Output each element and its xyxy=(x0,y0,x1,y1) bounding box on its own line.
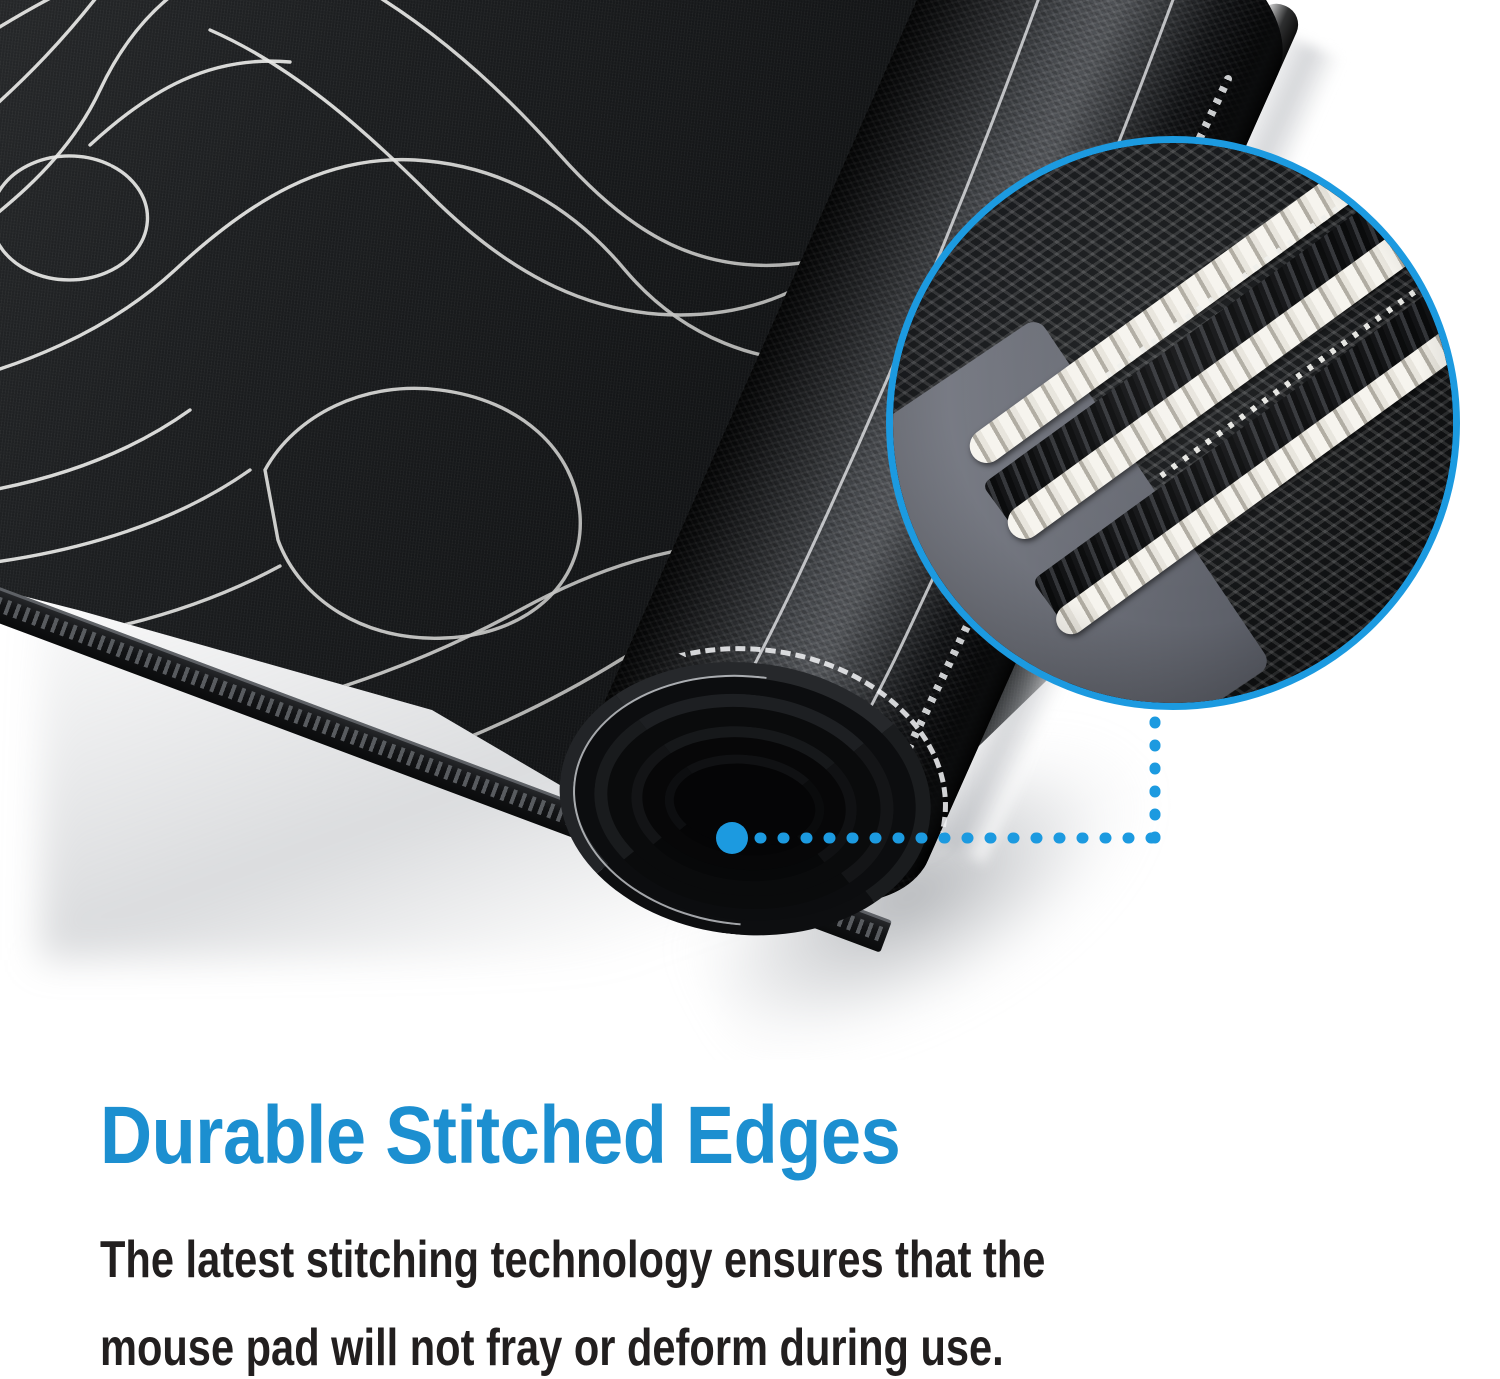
description-line-2: mouse pad will not fray or deform during… xyxy=(100,1304,1140,1379)
feature-description: The latest stitching technology ensures … xyxy=(100,1216,1140,1379)
zoom-vignette xyxy=(893,143,1453,703)
description-line-1: The latest stitching technology ensures … xyxy=(100,1216,1140,1304)
magnifier-circle[interactable] xyxy=(886,136,1460,710)
page-title: Durable Stitched Edges xyxy=(100,1090,1244,1182)
feature-text-block: Durable Stitched Edges The latest stitch… xyxy=(100,1090,1400,1379)
product-feature-panel: Durable Stitched Edges The latest stitch… xyxy=(0,0,1500,1379)
product-photo xyxy=(0,0,1500,1060)
